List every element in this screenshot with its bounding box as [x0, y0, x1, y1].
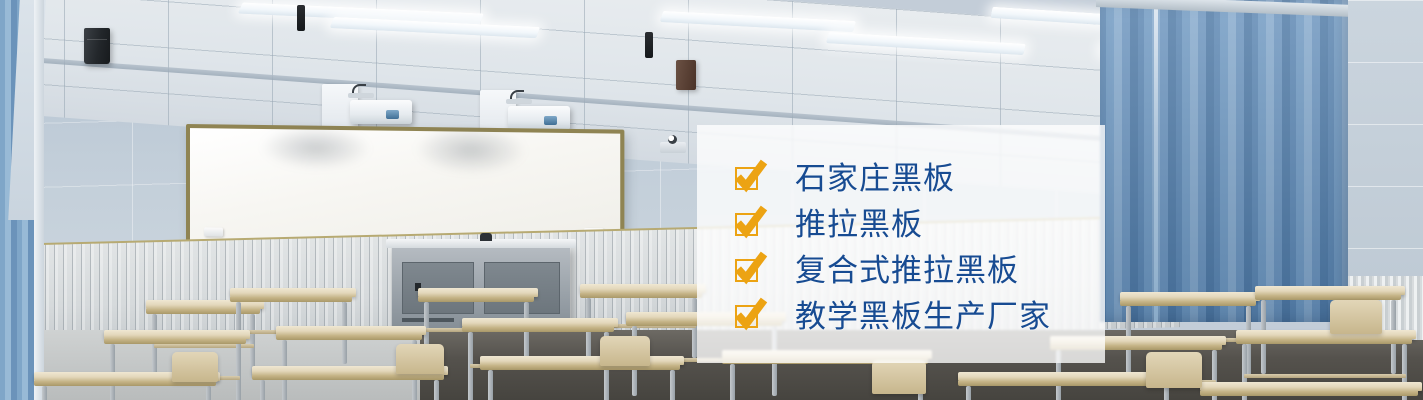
desk-leg	[434, 380, 439, 400]
feature-list: 石家庄黑板 推拉黑板 复合式推拉黑板	[697, 125, 1167, 387]
whiteboard-eraser	[204, 227, 223, 236]
desk-leg	[966, 386, 971, 400]
chair-back	[396, 344, 444, 374]
projector-arm	[506, 99, 532, 104]
checkbox-checked-icon	[735, 257, 761, 283]
desk-edge	[146, 309, 260, 314]
desk-top	[480, 356, 684, 365]
chair-back	[600, 336, 650, 366]
wall-camera	[660, 142, 686, 153]
wall-speaker	[676, 60, 696, 90]
desk-shelf	[1244, 374, 1406, 378]
ceiling-sensor-icon	[645, 32, 653, 58]
feature-item: 教学黑板生产厂家	[735, 293, 1167, 339]
feature-label: 复合式推拉黑板	[795, 255, 1019, 286]
desk-top	[230, 288, 356, 297]
desk-leg	[260, 380, 265, 400]
desk-edge	[104, 339, 246, 344]
desk-leg	[488, 370, 493, 400]
wall-post	[34, 0, 44, 400]
desk-edge	[252, 375, 444, 380]
desk-edge	[480, 365, 680, 370]
chair-back	[1330, 300, 1382, 334]
desk-edge	[1255, 295, 1401, 300]
desk-edge	[462, 327, 614, 332]
desk-edge	[276, 335, 422, 340]
projector-lens-icon	[544, 116, 557, 125]
checkbox-checked-icon	[735, 303, 761, 329]
feature-item: 复合式推拉黑板	[735, 247, 1167, 293]
feature-label: 教学黑板生产厂家	[795, 301, 1051, 332]
desk-leg	[206, 386, 211, 400]
desk-top	[104, 330, 250, 339]
projector-lens-icon	[386, 110, 399, 119]
wall-speaker	[84, 28, 110, 64]
feature-label: 推拉黑板	[795, 209, 923, 240]
desk-edge	[1200, 391, 1418, 396]
desk-top	[418, 288, 538, 297]
desk-edge	[580, 293, 702, 298]
whiteboard-shadow	[260, 125, 371, 171]
desk-leg	[1164, 386, 1169, 400]
desk-leg	[670, 370, 675, 400]
desk-top	[276, 326, 426, 335]
feature-item: 石家庄黑板	[735, 155, 1167, 201]
feature-label: 石家庄黑板	[795, 163, 955, 194]
desk-leg	[236, 344, 241, 400]
promo-banner: 石家庄黑板 推拉黑板 复合式推拉黑板	[0, 0, 1423, 400]
desk-top	[1255, 286, 1405, 295]
ceiling-sensor-icon	[297, 5, 305, 31]
av-cabinet-knob	[480, 233, 492, 241]
projector-arm	[348, 93, 374, 98]
desk-edge	[418, 297, 534, 302]
checkbox-checked-icon	[735, 211, 761, 237]
checkbox-checked-icon	[735, 165, 761, 191]
feature-item: 推拉黑板	[735, 201, 1167, 247]
desk-top	[1200, 382, 1422, 391]
desk-top	[462, 318, 618, 327]
desk-edge	[1236, 339, 1412, 344]
chair-back	[172, 352, 218, 382]
whiteboard-shadow	[414, 125, 527, 175]
desk-edge	[230, 297, 352, 302]
desk-top	[580, 284, 706, 293]
desk-leg	[42, 386, 47, 400]
projector-body	[350, 100, 412, 124]
desk-top	[1236, 330, 1416, 339]
desk-leg	[524, 302, 529, 362]
